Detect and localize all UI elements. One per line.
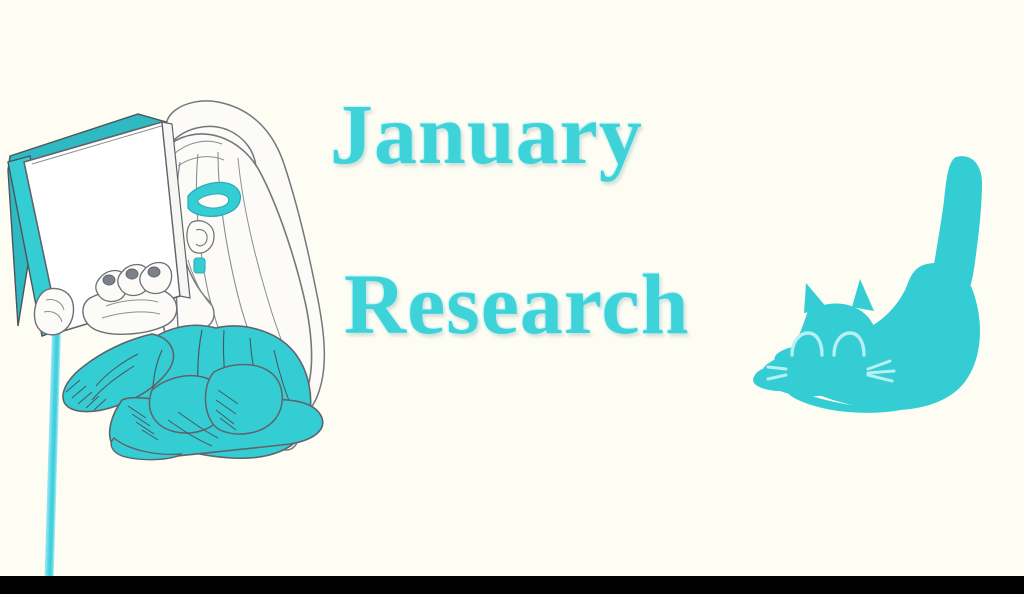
ear [187, 221, 214, 253]
hand-left [34, 288, 73, 334]
fingernail [126, 269, 138, 279]
title-block: January Research [330, 88, 790, 350]
knee-right [205, 365, 282, 435]
cat-ear-left [804, 283, 828, 313]
cat-whisker-left [768, 367, 786, 369]
slide-canvas: January Research [0, 0, 1024, 576]
fingernail [103, 275, 115, 285]
earring [194, 258, 205, 273]
cat-whisker-right [868, 371, 894, 373]
cat-ear-right [852, 279, 874, 311]
girl-reading-illustration [2, 100, 370, 460]
fingernail [148, 267, 160, 277]
title-line-january: January [330, 88, 790, 180]
girl-reading-svg [2, 100, 370, 460]
title-line-research: Research [344, 258, 790, 350]
